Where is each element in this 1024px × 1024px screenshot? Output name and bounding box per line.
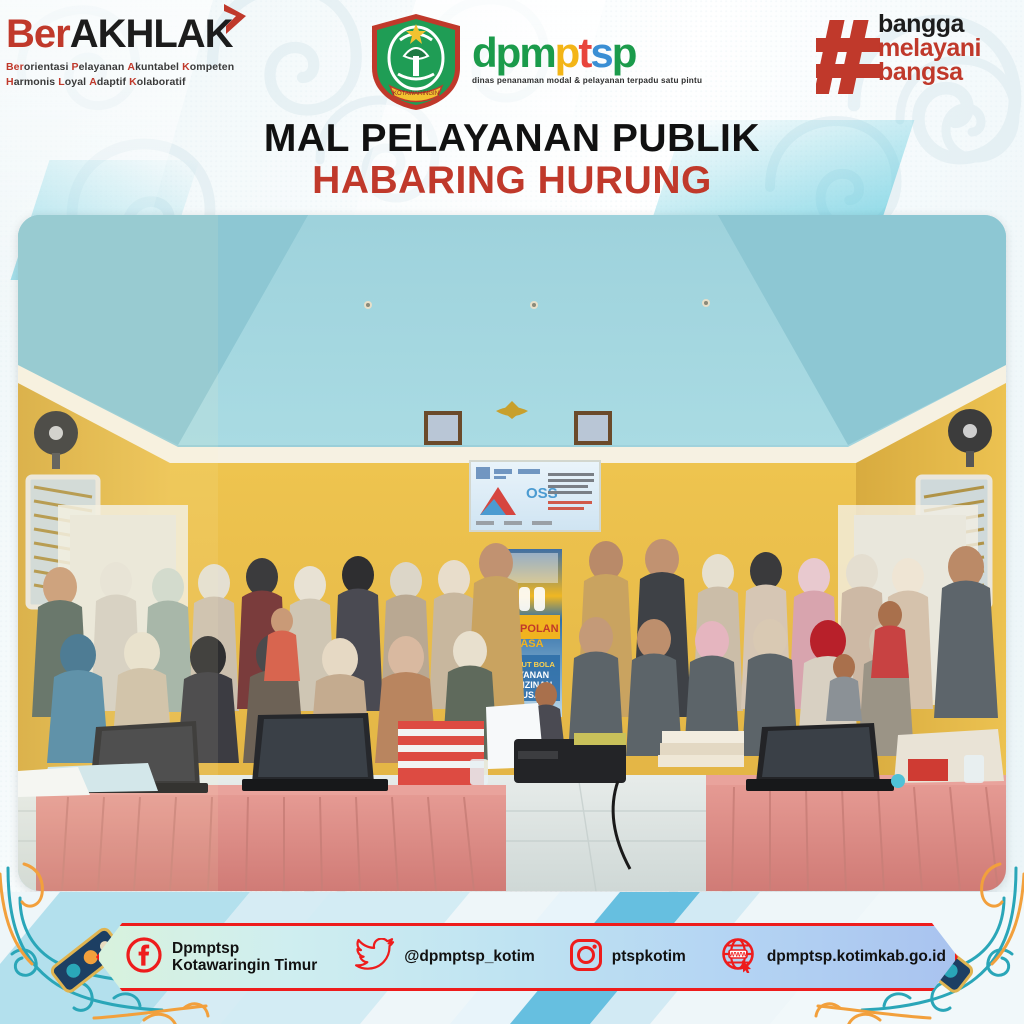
poster-header: BerAKHLAK Berorientasi Pelayanan Akuntab…	[0, 0, 1024, 212]
berakhlak-word-part1: Ber	[6, 12, 70, 56]
website-icon: WWW	[720, 937, 758, 978]
instagram-icon	[569, 938, 603, 977]
footer-twitter-label: @dpmptsp_kotim	[404, 948, 535, 965]
berakhlak-logo: BerAKHLAK Berorientasi Pelayanan Akuntab…	[6, 14, 256, 89]
dpmptsp-wordmark-block: dpmptsp dinas penanaman modal & pelayana…	[472, 34, 702, 85]
dpmptsp-logo-group: KOTAWARINGIN dpmptsp dinas penanaman mod…	[368, 12, 668, 112]
footer-facebook-line1: Dpmptsp	[172, 940, 239, 957]
dpmptsp-letter-s: s	[590, 34, 611, 72]
bangga-line2: melayani	[878, 36, 981, 60]
title-line-2: HABARING HURUNG	[0, 160, 1024, 202]
svg-text:WWW: WWW	[729, 951, 748, 958]
event-photograph: OSS JE	[18, 215, 1006, 891]
title-line-1: MAL PELAYANAN PUBLIK	[0, 118, 1024, 160]
dpmptsp-letter-p2: p	[555, 34, 579, 72]
bangga-text-lines: bangga melayani bangsa	[878, 12, 981, 84]
footer-item-facebook[interactable]: Dpmptsp Kotawaringin Timur	[125, 936, 317, 979]
bangga-melayani-bangsa-logo: bangga melayani bangsa	[816, 8, 1008, 104]
footer-item-website[interactable]: WWW dpmptsp.kotimkab.go.id	[720, 937, 946, 978]
berakhlak-arrow-icon	[220, 2, 248, 43]
dpmptsp-letter-p1: p	[496, 34, 520, 72]
dpmptsp-wordmark: dpmptsp	[472, 34, 702, 72]
footer-facebook-label: Dpmptsp Kotawaringin Timur	[172, 940, 317, 975]
berakhlak-tagline-line2: Harmonis Loyal Adaptif Kolaboratif	[6, 75, 256, 89]
emblem-label: KOTAWARINGIN	[393, 91, 439, 97]
dpmptsp-letter-d: d	[472, 34, 496, 72]
dpmptsp-tagline: dinas penanaman modal & pelayanan terpad…	[472, 76, 702, 85]
social-contact-bar: Dpmptsp Kotawaringin Timur @dpmptsp_koti…	[96, 923, 958, 991]
hashtag-icon	[816, 18, 882, 101]
footer-item-instagram[interactable]: ptspkotim	[569, 938, 686, 977]
facebook-icon	[125, 936, 163, 979]
kotawaringin-timur-emblem-icon: KOTAWARINGIN	[368, 12, 464, 112]
footer-website-label: dpmptsp.kotimkab.go.id	[767, 948, 946, 965]
poster-canvas: BerAKHLAK Berorientasi Pelayanan Akuntab…	[0, 0, 1024, 1024]
event-photograph-image: OSS JE	[18, 215, 1006, 891]
footer-facebook-line2: Kotawaringin Timur	[172, 957, 317, 974]
dpmptsp-letter-m: m	[519, 34, 554, 72]
bangga-line1: bangga	[878, 12, 981, 36]
poster-title: MAL PELAYANAN PUBLIK HABARING HURUNG	[0, 118, 1024, 202]
footer-item-twitter[interactable]: @dpmptsp_kotim	[355, 938, 535, 977]
twitter-icon	[355, 938, 395, 977]
berakhlak-wordmark: BerAKHLAK	[6, 14, 256, 54]
footer-instagram-label: ptspkotim	[612, 948, 686, 965]
dpmptsp-letter-t: t	[578, 34, 590, 72]
bangga-line3: bangsa	[878, 60, 981, 84]
dpmptsp-letter-p3: p	[612, 34, 636, 72]
berakhlak-word-part2: AKHLAK	[70, 12, 233, 56]
berakhlak-tagline-line1: Berorientasi Pelayanan Akuntabel Kompete…	[6, 60, 256, 74]
